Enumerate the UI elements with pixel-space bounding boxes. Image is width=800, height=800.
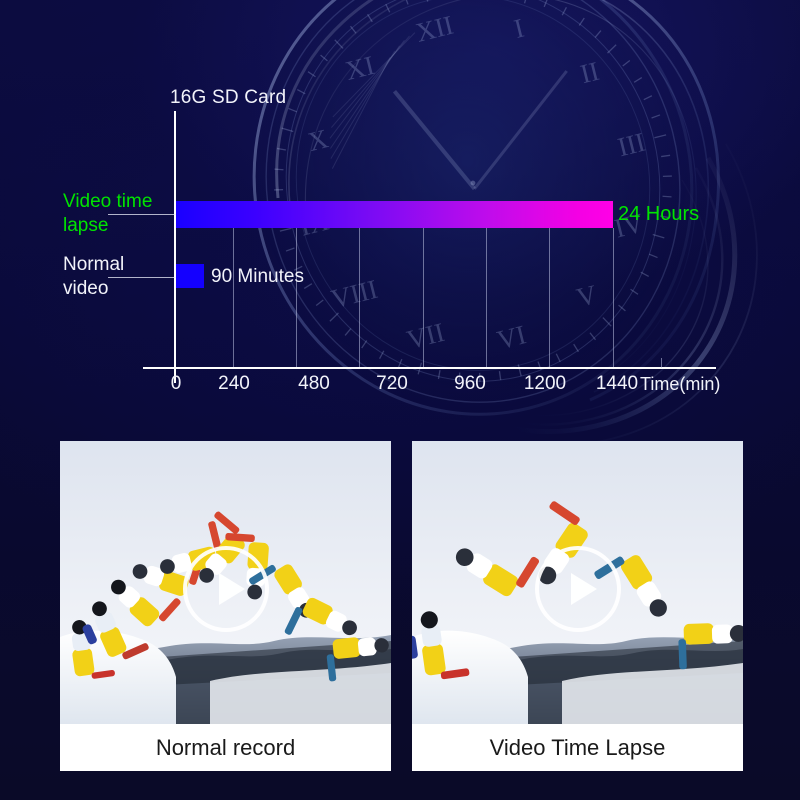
- video-card-video-time-lapse[interactable]: Video Time Lapse: [412, 441, 743, 771]
- promo-page: XII I II III IV V VI VII VIII IX X XI: [0, 0, 800, 800]
- play-icon[interactable]: [535, 546, 621, 632]
- leader-line-normal-video: [108, 277, 176, 278]
- x-tick-label-0: 0: [171, 373, 182, 395]
- category-line-1: Video time: [63, 190, 171, 214]
- leader-line-video-time-lapse: [108, 214, 176, 215]
- y-axis-line: [174, 111, 176, 383]
- gridline-1200: [486, 228, 487, 367]
- gridline-1440-mid: [549, 228, 550, 367]
- x-tick-label-720: 720: [376, 373, 408, 395]
- x-axis-title: Time(min): [640, 374, 720, 395]
- bar-video-time-lapse: [176, 201, 613, 228]
- bar-normal-video: [176, 264, 204, 288]
- gridline-720: [359, 228, 360, 367]
- category-line-2: video: [63, 277, 171, 301]
- video-thumbnail-normal-record[interactable]: [60, 441, 391, 724]
- video-caption-video-time-lapse: Video Time Lapse: [412, 724, 743, 771]
- gridline-480: [296, 228, 297, 367]
- gridline-1440: [613, 228, 614, 367]
- chart-title-sd-card: 16G SD Card: [170, 87, 286, 109]
- storage-comparison-chart: 16G SD Card 24 Hours 90 Minutes Video ti…: [0, 0, 800, 430]
- x-tick-label-1440: 1440: [596, 373, 638, 395]
- video-card-normal-record[interactable]: Normal record: [60, 441, 391, 771]
- category-line-1: Normal: [63, 253, 171, 277]
- gridline-240: [233, 228, 234, 367]
- category-line-2: lapse: [63, 214, 171, 238]
- x-tick-label-1200: 1200: [524, 373, 566, 395]
- tick-minor: [661, 358, 662, 368]
- gridline-960: [423, 228, 424, 367]
- video-caption-normal-record: Normal record: [60, 724, 391, 771]
- video-comparison-row: Normal record: [0, 441, 800, 771]
- bar-value-video-time-lapse: 24 Hours: [618, 203, 699, 226]
- x-axis-line: [143, 367, 716, 369]
- x-tick-label-480: 480: [298, 373, 330, 395]
- video-thumbnail-video-time-lapse[interactable]: [412, 441, 743, 724]
- play-icon[interactable]: [183, 546, 269, 632]
- x-tick-label-240: 240: [218, 373, 250, 395]
- bar-value-normal-video: 90 Minutes: [211, 266, 304, 288]
- x-tick-label-960: 960: [454, 373, 486, 395]
